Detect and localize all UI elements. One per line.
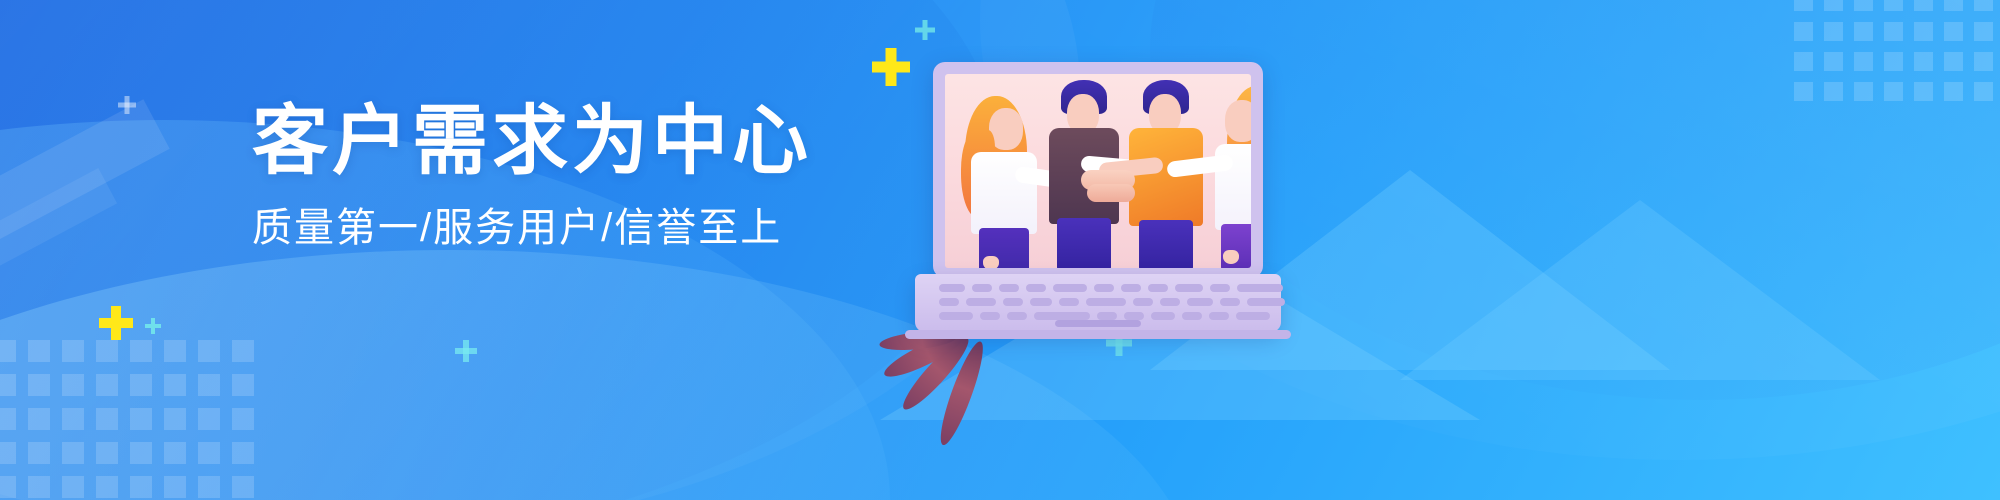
plus-icon-cyan-tiny <box>145 318 161 334</box>
plus-icon-yellow-medium <box>99 306 133 340</box>
plus-icon-cyan-small <box>915 20 935 40</box>
laptop-front-edge <box>905 330 1291 339</box>
laptop-lid <box>933 62 1263 278</box>
team-joining-hands-illustration <box>945 74 1251 268</box>
banner-subline: 质量第一/服务用户/信誉至上 <box>252 206 872 250</box>
joined-hands <box>1087 184 1135 202</box>
person-woman-right <box>1201 74 1251 268</box>
plus-icon-yellow-large <box>872 48 910 86</box>
laptop-keyboard-base <box>915 274 1281 332</box>
laptop-illustration <box>915 62 1285 342</box>
laptop-touchpad <box>1055 320 1141 327</box>
laptop-screen <box>945 74 1251 268</box>
square-grid-pattern-bottom-left <box>0 340 266 500</box>
banner-headline: 客户需求为中心 <box>252 104 872 180</box>
promotional-banner: 客户需求为中心 质量第一/服务用户/信誉至上 <box>0 0 2000 500</box>
background-mountain-shape <box>1400 200 1880 380</box>
banner-text-block: 客户需求为中心 质量第一/服务用户/信誉至上 <box>252 104 872 250</box>
person-woman-left <box>959 78 1051 268</box>
square-grid-pattern-top-right <box>1794 0 2000 112</box>
background-wave-shape <box>0 0 1000 500</box>
plus-icon-cyan-bottom <box>455 340 477 362</box>
